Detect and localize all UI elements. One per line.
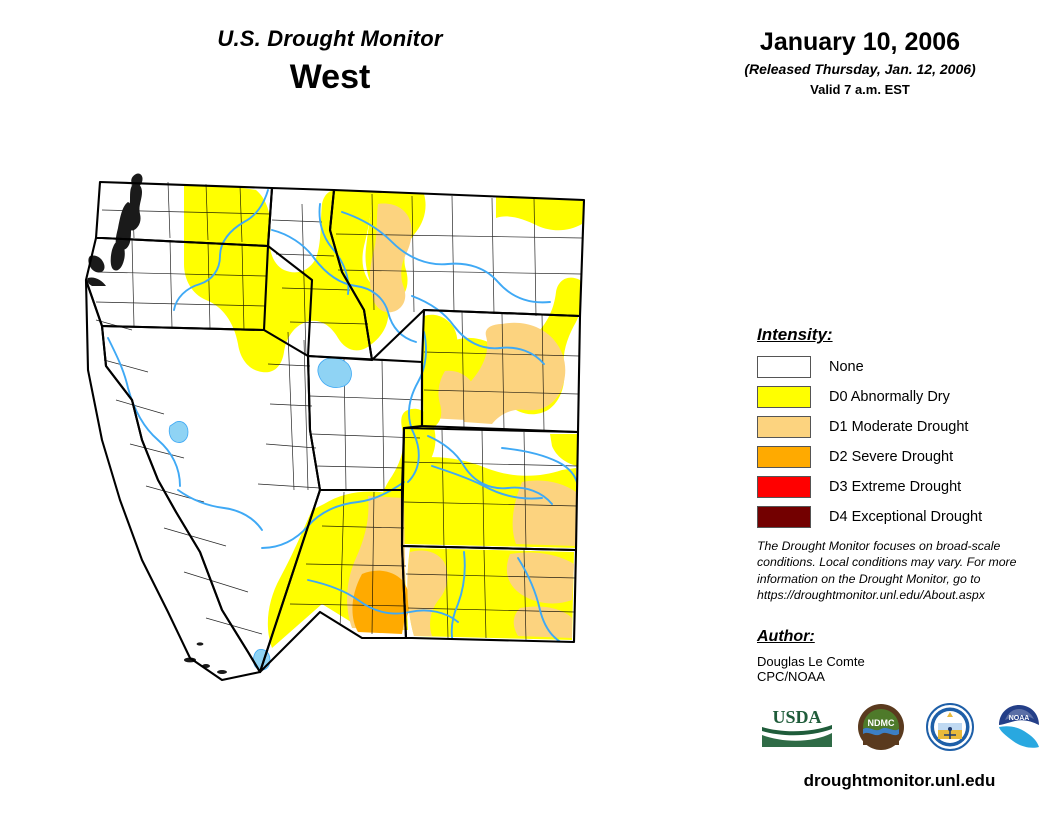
legend-title: Intensity: [757, 325, 1027, 345]
release-date: (Released Thursday, Jan. 12, 2006) [700, 61, 1020, 77]
date-block: January 10, 2006 (Released Thursday, Jan… [700, 28, 1020, 97]
lake-tahoe [169, 421, 188, 442]
valid-time: Valid 7 a.m. EST [700, 82, 1020, 97]
legend-item-d4[interactable]: D4 Exceptional Drought [757, 504, 1027, 529]
legend-swatch-d4 [757, 506, 811, 528]
ndmc-logo[interactable]: NDMC [857, 703, 905, 751]
valid-date: January 10, 2006 [700, 28, 1020, 57]
legend-swatch-none [757, 356, 811, 378]
author-name: Douglas Le Comte [757, 654, 1025, 669]
region-title: West [120, 58, 540, 97]
legend-item-d1[interactable]: D1 Moderate Drought [757, 414, 1027, 439]
program-title: U.S. Drought Monitor [120, 26, 540, 52]
svg-text:NDMC: NDMC [868, 718, 895, 728]
legend-label-d1: D1 Moderate Drought [829, 419, 968, 435]
svg-text:USDA: USDA [772, 707, 821, 727]
author-block: Author: Douglas Le Comte CPC/NOAA [757, 628, 1025, 684]
legend-swatch-d3 [757, 476, 811, 498]
legend-label-d4: D4 Exceptional Drought [829, 509, 982, 525]
logo-row: USDA NDMC NOAA [758, 703, 1043, 751]
footer-url[interactable]: droughtmonitor.unl.edu [757, 771, 1042, 791]
legend-item-d0[interactable]: D0 Abnormally Dry [757, 384, 1027, 409]
disclaimer-text: The Drought Monitor focuses on broad-sca… [757, 538, 1025, 603]
legend-label-d3: D3 Extreme Drought [829, 479, 961, 495]
author-title: Author: [757, 628, 1025, 646]
legend-swatch-d0 [757, 386, 811, 408]
title-block: U.S. Drought Monitor West [120, 26, 540, 97]
author-organization: CPC/NOAA [757, 669, 1025, 684]
d1-area-colorado-southeast [513, 480, 576, 546]
legend-label-d0: D0 Abnormally Dry [829, 389, 950, 405]
legend-item-none[interactable]: None [757, 354, 1027, 379]
svg-text:NOAA: NOAA [1009, 715, 1030, 722]
legend-swatch-d2 [757, 446, 811, 468]
legend-item-d3[interactable]: D3 Extreme Drought [757, 474, 1027, 499]
usda-logo[interactable]: USDA [758, 703, 836, 751]
legend-swatch-d1 [757, 416, 811, 438]
legend: Intensity: None D0 Abnormally Dry D1 Mod… [757, 325, 1027, 534]
legend-label-d2: D2 Severe Drought [829, 449, 953, 465]
legend-label-none: None [829, 359, 864, 375]
usdc-seal-logo[interactable] [926, 703, 974, 751]
legend-item-d2[interactable]: D2 Severe Drought [757, 444, 1027, 469]
noaa-logo[interactable]: NOAA [995, 703, 1043, 751]
drought-map[interactable] [72, 160, 732, 800]
